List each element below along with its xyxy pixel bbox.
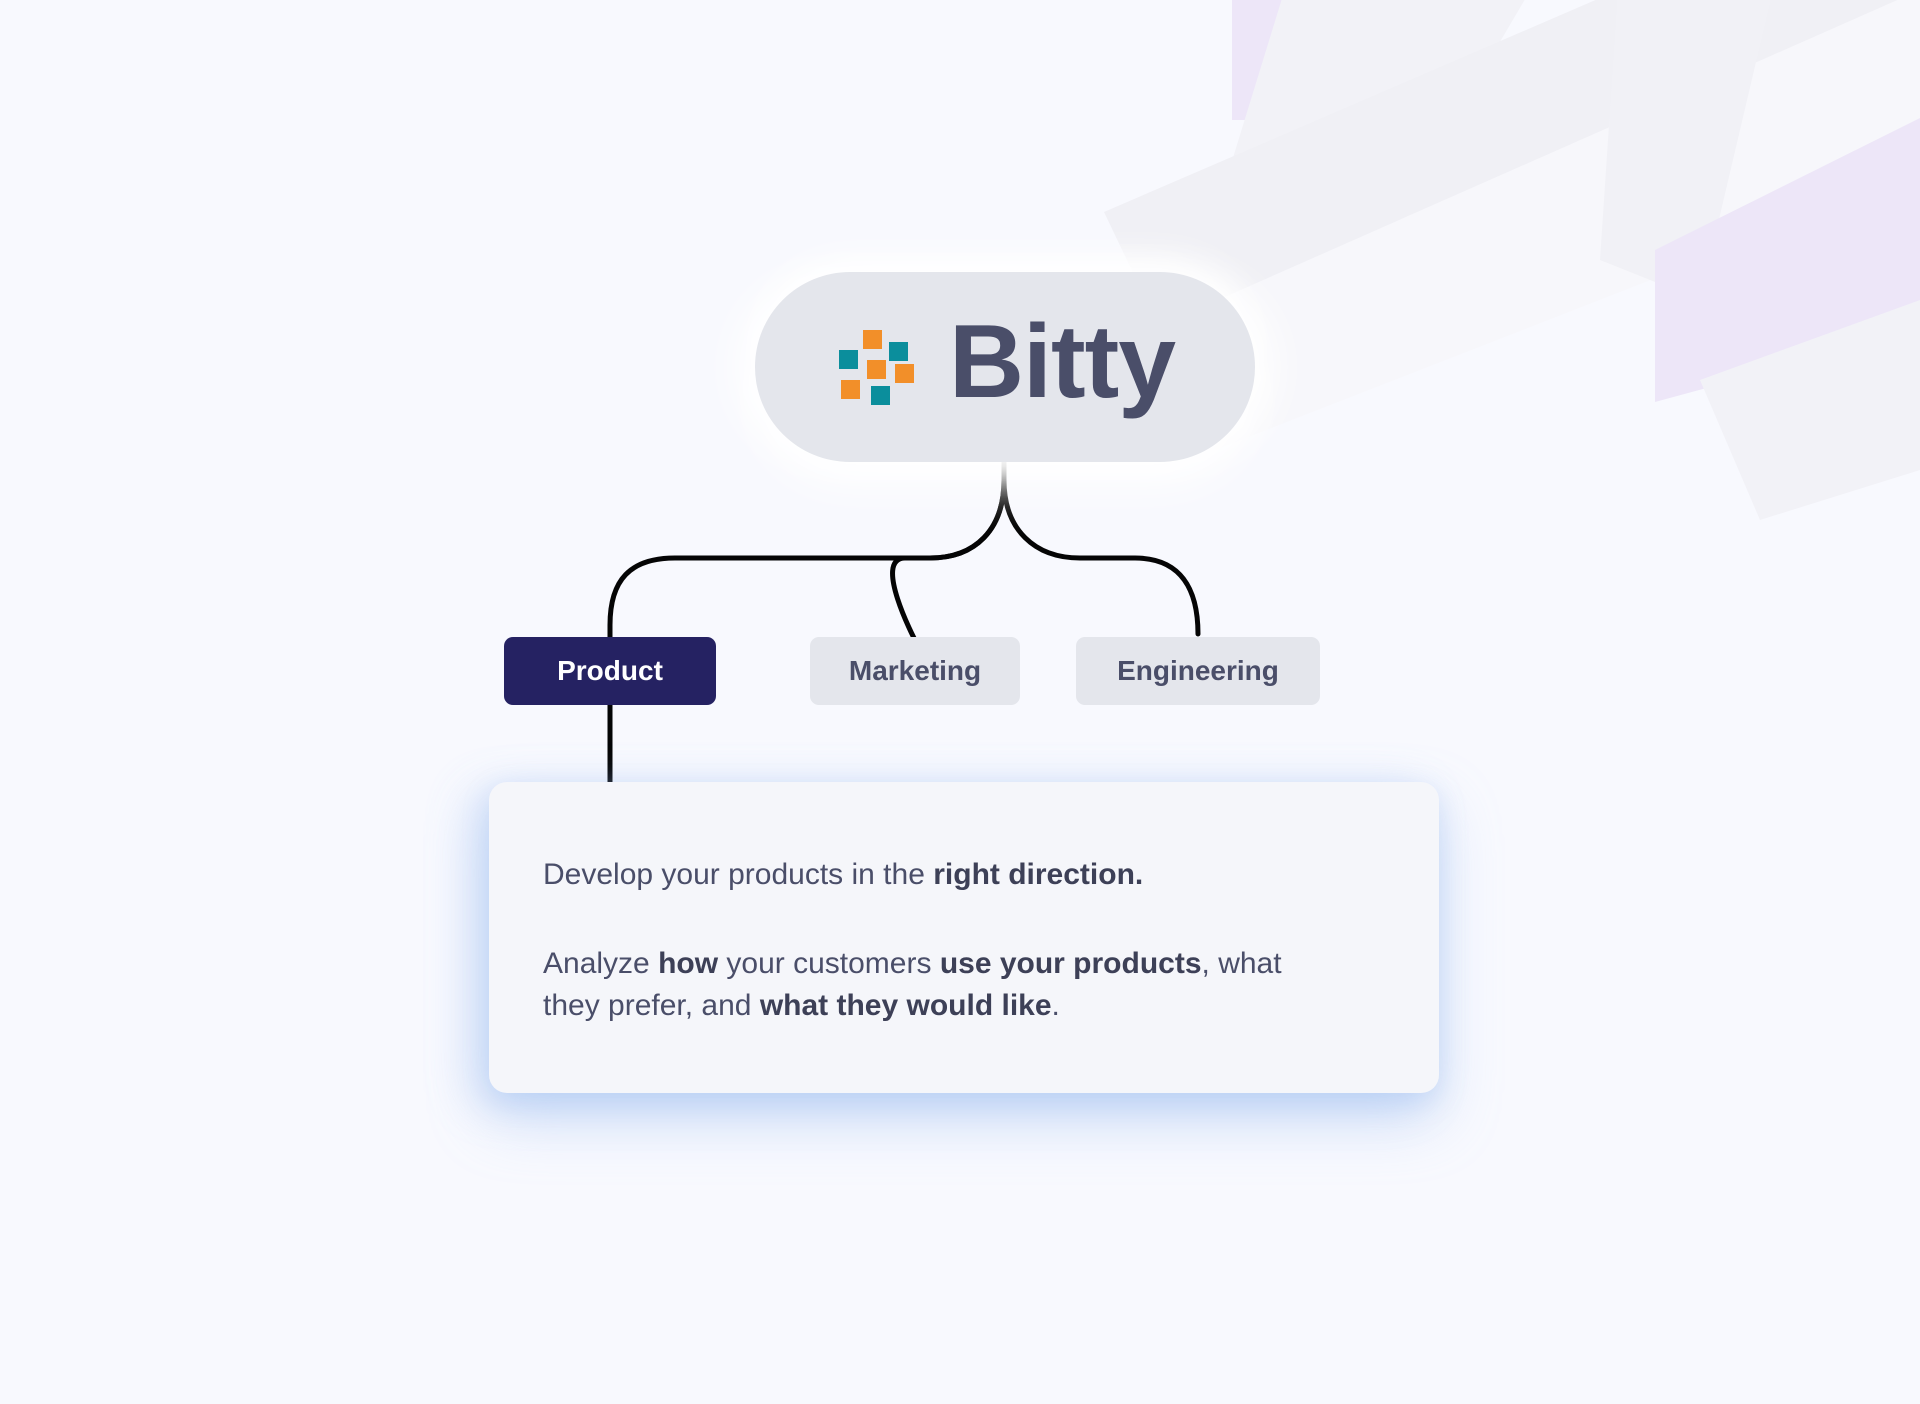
connector-to-marketing xyxy=(893,480,1004,640)
plain-text: Develop your products in the xyxy=(543,858,933,891)
tree-node-marketing-label: Marketing xyxy=(849,655,981,687)
brand-pill[interactable]: Bitty xyxy=(755,272,1255,462)
connector-to-engineering xyxy=(1004,480,1198,634)
logo-dot-2 xyxy=(839,350,858,369)
bitty-dot-logo-icon xyxy=(835,324,921,410)
tree-node-engineering[interactable]: Engineering xyxy=(1076,637,1320,705)
logo-dot-1 xyxy=(889,342,908,361)
detail-card: Develop your products in the right direc… xyxy=(489,782,1439,1093)
emphasis-text: right direction. xyxy=(933,858,1143,891)
detail-paragraph-body: Analyze how your customers use your prod… xyxy=(543,943,1343,1028)
emphasis-text: what they would like xyxy=(760,989,1052,1022)
plain-text: your customers xyxy=(718,947,940,980)
logo-dot-0 xyxy=(863,330,882,349)
logo-dot-6 xyxy=(871,386,890,405)
tree-node-product-label: Product xyxy=(557,655,663,687)
logo-dot-3 xyxy=(867,360,886,379)
emphasis-text: how xyxy=(658,947,718,980)
logo-dot-5 xyxy=(841,380,860,399)
tree-node-engineering-label: Engineering xyxy=(1117,655,1279,687)
emphasis-text: use your products xyxy=(940,947,1202,980)
tree-node-marketing[interactable]: Marketing xyxy=(810,637,1020,705)
plain-text: . xyxy=(1052,989,1060,1022)
brand-wordmark: Bitty xyxy=(949,310,1175,424)
diagram-stage: Bitty Product Marketing Engineering Deve… xyxy=(0,0,1920,1404)
logo-dot-4 xyxy=(895,364,914,383)
detail-paragraph-headline: Develop your products in the right direc… xyxy=(543,854,1343,897)
plain-text: Analyze xyxy=(543,947,658,980)
tree-node-product[interactable]: Product xyxy=(504,637,716,705)
